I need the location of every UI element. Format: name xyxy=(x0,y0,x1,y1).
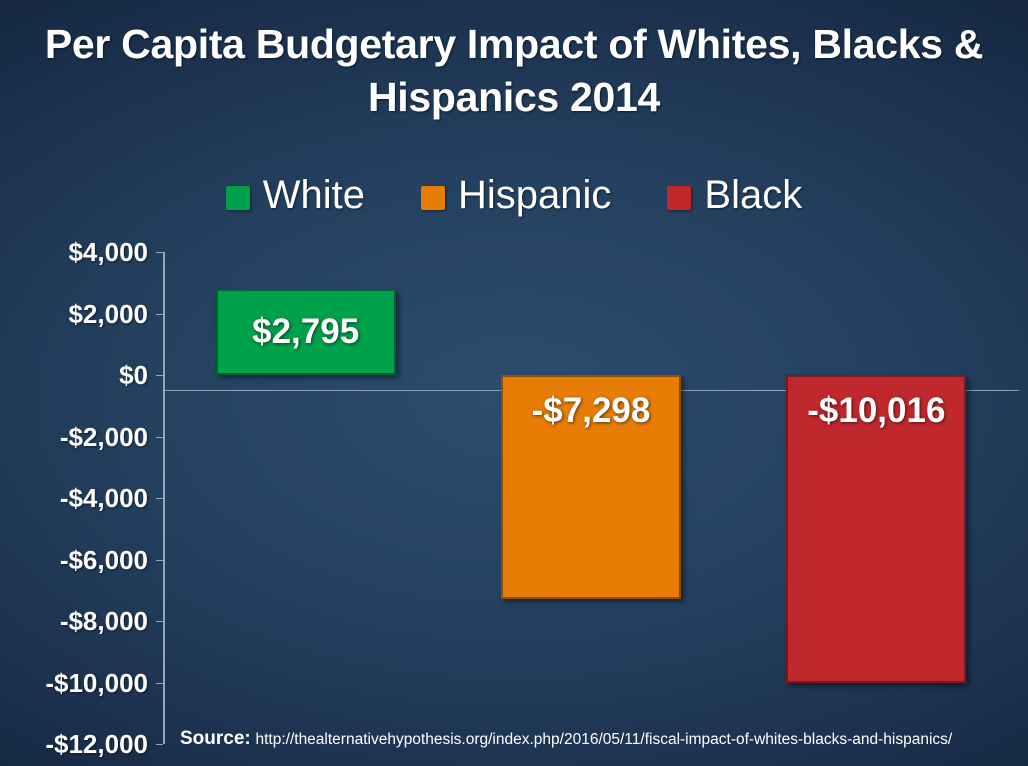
legend-item-white: White xyxy=(226,172,365,218)
legend-label-hispanic: Hispanic xyxy=(458,172,611,218)
source-url: http://thealternativehypothesis.org/inde… xyxy=(255,731,952,748)
legend-swatch-white xyxy=(226,186,250,210)
y-axis-tick-mark xyxy=(156,375,163,376)
y-axis-tick-mark xyxy=(156,683,163,684)
y-axis-tick-label: $2,000 xyxy=(0,301,148,327)
y-axis-tick-label: -$10,000 xyxy=(0,670,148,696)
y-axis-line xyxy=(163,252,165,744)
y-axis-tick-mark xyxy=(156,560,163,561)
bar-white: $2,795 xyxy=(216,289,396,375)
bar-value-label: $2,795 xyxy=(218,312,394,352)
source-note: Source: http://thealternativehypothesis.… xyxy=(180,728,952,750)
y-axis-tick-mark xyxy=(156,744,163,745)
chart-legend: White Hispanic Black xyxy=(0,172,1028,218)
y-axis-tick-label: $4,000 xyxy=(0,239,148,265)
bar-value-label: -$7,298 xyxy=(503,391,679,431)
y-axis-tick-label: -$4,000 xyxy=(0,485,148,511)
source-label: Source xyxy=(180,728,244,749)
legend-swatch-black xyxy=(667,186,691,210)
y-axis-tick-label: -$2,000 xyxy=(0,424,148,450)
legend-item-hispanic: Hispanic xyxy=(421,172,611,218)
bar-black: -$10,016 xyxy=(786,375,966,683)
y-axis-tick-label: -$12,000 xyxy=(0,731,148,757)
y-axis-tick-label: -$6,000 xyxy=(0,547,148,573)
legend-label-black: Black xyxy=(704,172,802,218)
y-axis-tick-mark xyxy=(156,252,163,253)
legend-item-black: Black xyxy=(667,172,802,218)
bar-value-label: -$10,016 xyxy=(788,391,964,431)
source-separator: : xyxy=(244,728,250,749)
y-axis-tick-mark xyxy=(156,621,163,622)
bar-hispanic: -$7,298 xyxy=(501,375,681,599)
y-axis-tick-label: $0 xyxy=(0,362,148,388)
y-axis-tick-mark xyxy=(156,498,163,499)
legend-label-white: White xyxy=(263,172,365,218)
y-axis-tick-label: -$8,000 xyxy=(0,608,148,634)
page-title: Per Capita Budgetary Impact of Whites, B… xyxy=(0,18,1028,124)
y-axis-tick-mark xyxy=(156,437,163,438)
chart-slide: Per Capita Budgetary Impact of Whites, B… xyxy=(0,0,1028,766)
y-axis-tick-mark xyxy=(156,314,163,315)
legend-swatch-hispanic xyxy=(421,186,445,210)
plot-area: $4,000$2,000$0-$2,000-$4,000-$6,000-$8,0… xyxy=(163,252,1019,744)
